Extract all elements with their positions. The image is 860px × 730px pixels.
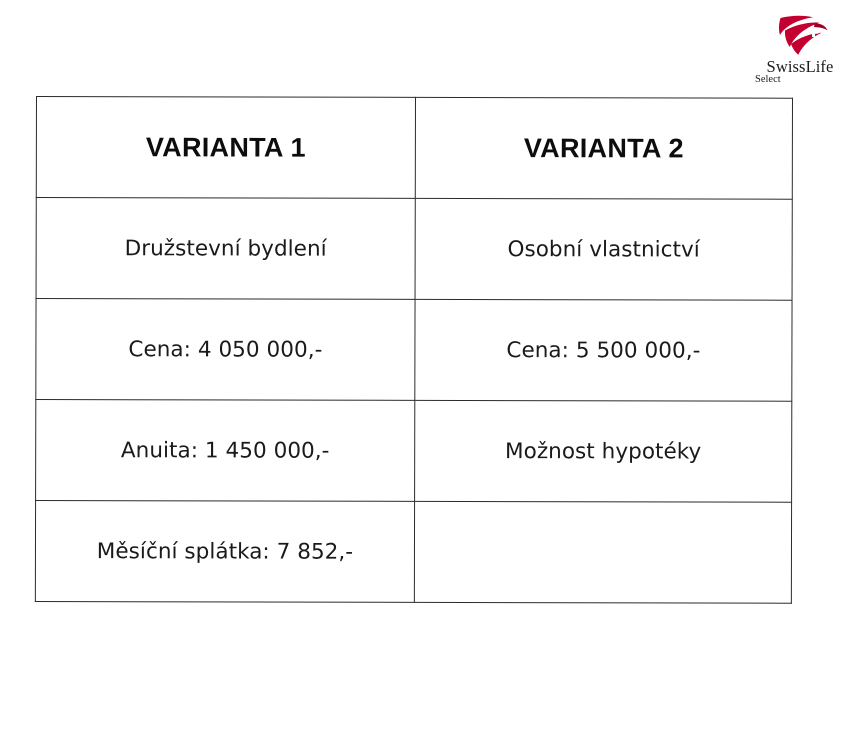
cell-varianta-1-annuity: Anuita: 1 450 000,- xyxy=(36,400,415,502)
table-row: Měsíční splátka: 7 852,- xyxy=(35,501,791,604)
cell-text: Družstevní bydlení xyxy=(125,236,327,261)
cell-varianta-2-empty xyxy=(414,501,791,603)
variant-comparison-table: VARIANTA 1 VARIANTA 2 Družstevní bydlení… xyxy=(35,96,793,604)
swiss-life-select-logo: SwissLife Select xyxy=(752,14,848,92)
cell-text: Osobní vlastnictví xyxy=(507,237,699,262)
cell-varianta-1-price: Cena: 4 050 000,- xyxy=(36,299,415,401)
table-row: Cena: 4 050 000,- Cena: 5 500 000,- xyxy=(36,299,792,402)
table-header-varianta-1: VARIANTA 1 xyxy=(36,97,415,199)
cell-varianta-2-price: Cena: 5 500 000,- xyxy=(415,299,792,401)
table-header-varianta-2: VARIANTA 2 xyxy=(415,97,792,199)
cell-text: Cena: 4 050 000,- xyxy=(128,337,322,362)
table-row: Anuita: 1 450 000,- Možnost hypotéky xyxy=(36,400,792,503)
cell-varianta-1-monthly-payment: Měsíční splátka: 7 852,- xyxy=(35,501,414,603)
brand-wordmark: SwissLife xyxy=(752,58,848,75)
table-row: Družstevní bydlení Osobní vlastnictví xyxy=(36,198,792,301)
cell-varianta-1-ownership: Družstevní bydlení xyxy=(36,198,415,300)
cell-text: Měsíční splátka: 7 852,- xyxy=(97,539,353,565)
table-header-row: VARIANTA 1 VARIANTA 2 xyxy=(36,97,792,200)
cell-varianta-2-mortgage: Možnost hypotéky xyxy=(415,400,792,502)
swiss-life-swoosh-cross-icon xyxy=(771,14,829,56)
cell-text: Cena: 5 500 000,- xyxy=(506,338,700,363)
table-header-varianta-1-label: VARIANTA 1 xyxy=(146,132,306,163)
table-header-varianta-2-label: VARIANTA 2 xyxy=(524,133,684,164)
slide-canvas: SwissLife Select VARIANTA 1 VARIANTA 2 xyxy=(0,0,860,730)
cell-text: Anuita: 1 450 000,- xyxy=(121,438,330,463)
cell-varianta-2-ownership: Osobní vlastnictví xyxy=(415,198,792,300)
cell-text: Možnost hypotéky xyxy=(505,439,701,464)
variant-comparison-table-wrapper: VARIANTA 1 VARIANTA 2 Družstevní bydlení… xyxy=(35,96,792,598)
